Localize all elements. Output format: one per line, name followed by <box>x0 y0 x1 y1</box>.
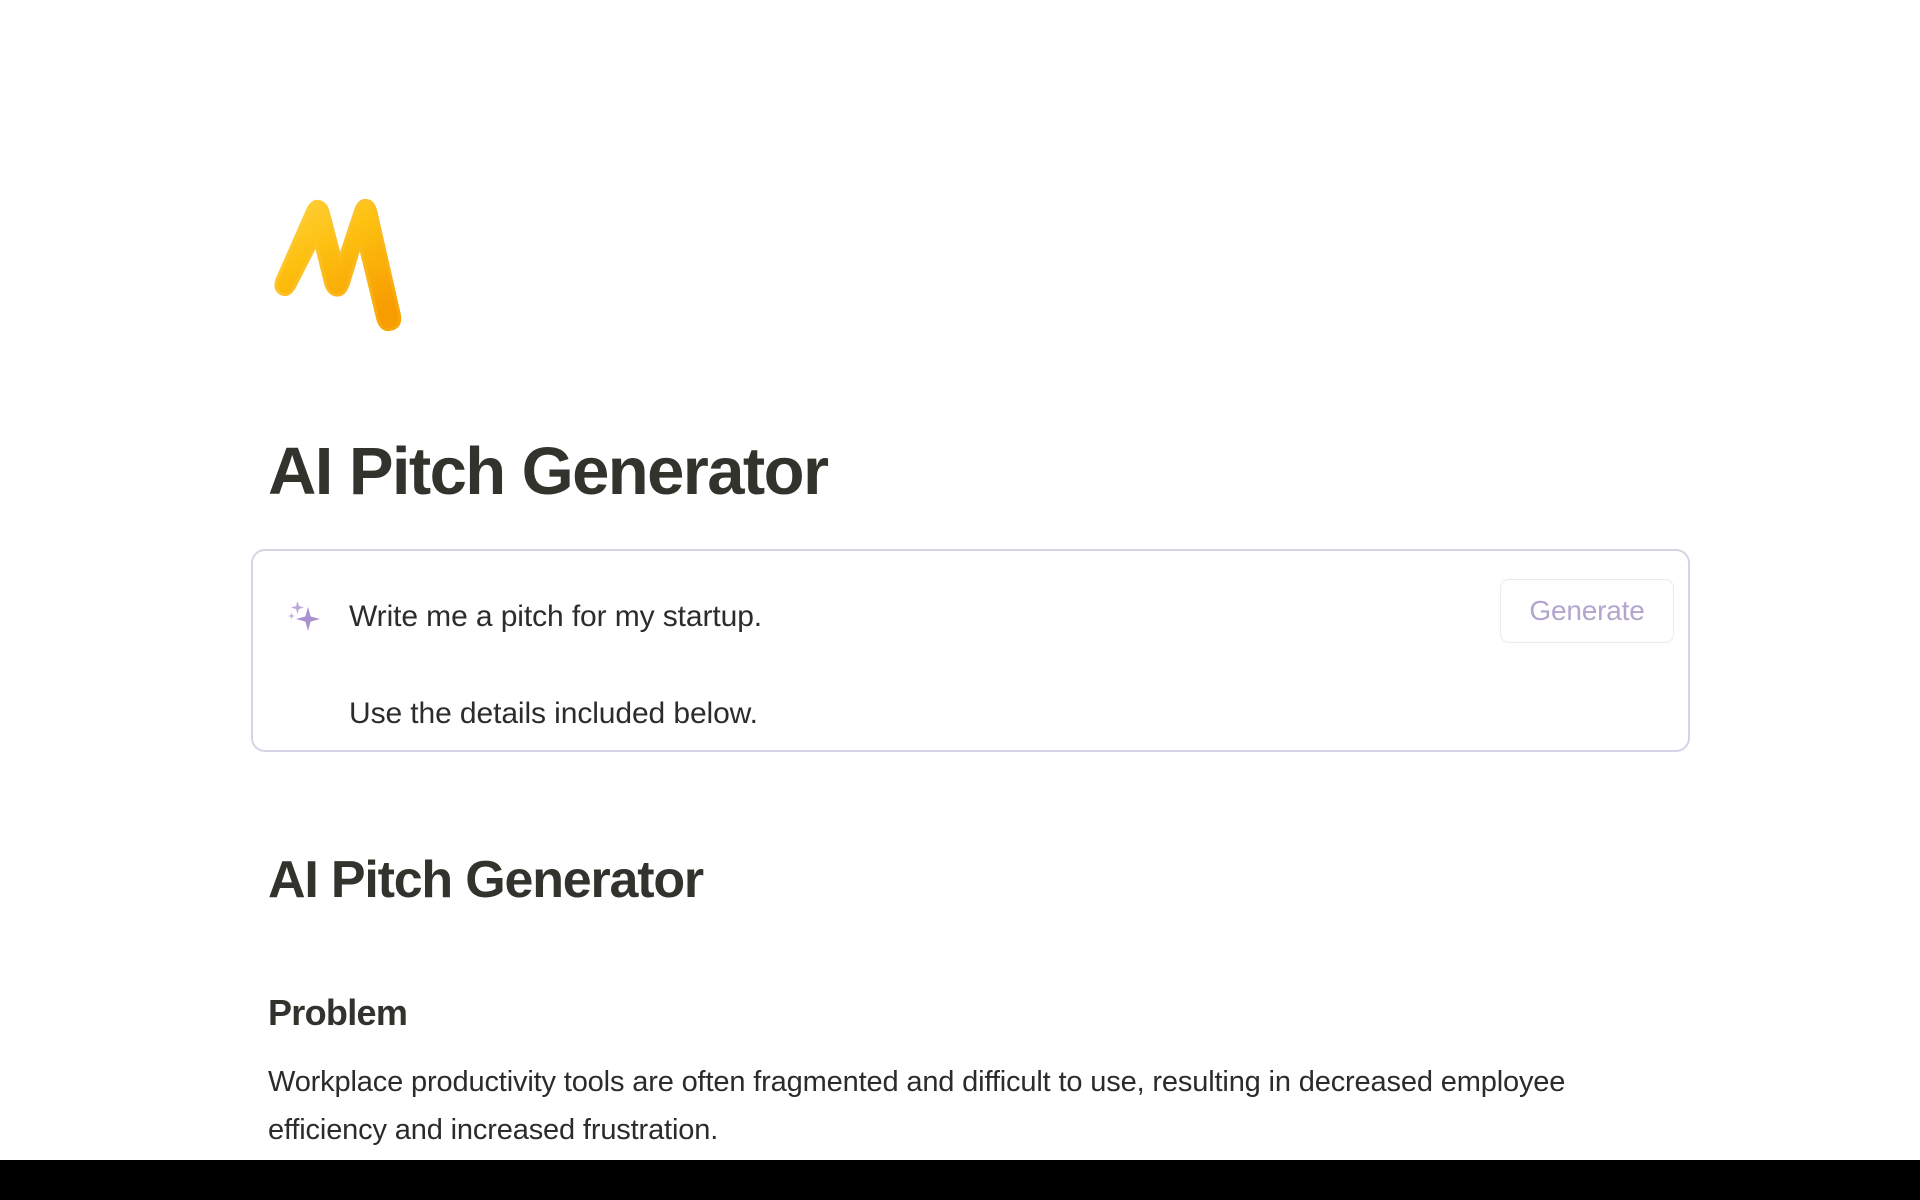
section-heading-problem: Problem <box>268 990 407 1036</box>
bottom-letterbox-bar <box>0 1160 1920 1200</box>
prompt-text-line-1[interactable]: Write me a pitch for my startup. <box>349 595 762 639</box>
prompt-input-card[interactable]: Write me a pitch for my startup. Use the… <box>251 549 1690 752</box>
document-title: AI Pitch Generator <box>268 848 703 912</box>
page-title: AI Pitch Generator <box>268 432 827 512</box>
sparkle-icon <box>284 596 326 638</box>
mountain-m-logo-icon <box>270 193 420 333</box>
section-body-problem: Workplace productivity tools are often f… <box>268 1058 1640 1154</box>
generate-button[interactable]: Generate <box>1500 579 1674 643</box>
app-page: AI Pitch Generator Write me a pitch for … <box>0 0 1920 1160</box>
prompt-row: Write me a pitch for my startup. Use the… <box>253 551 1688 750</box>
prompt-text-line-2[interactable]: Use the details included below. <box>349 692 758 736</box>
